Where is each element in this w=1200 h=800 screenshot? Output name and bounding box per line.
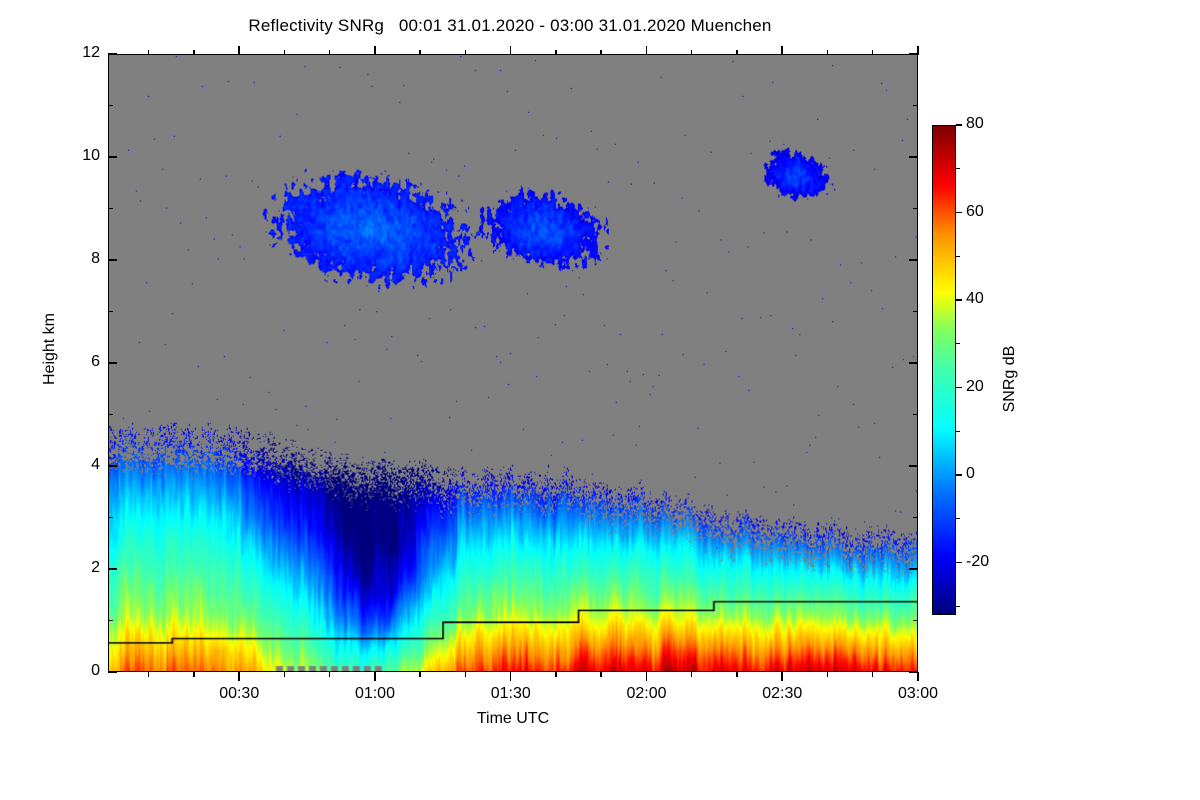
y-major-tick-right	[909, 259, 918, 261]
x-minor-tick	[329, 672, 331, 677]
colorbar-minor-tick	[956, 431, 960, 432]
x-minor-tick-top	[827, 50, 829, 55]
colorbar-tick-label: 20	[966, 378, 984, 396]
y-minor-tick-right	[913, 105, 918, 107]
x-tick-label: 01:30	[466, 685, 556, 703]
y-minor-tick	[108, 311, 113, 313]
x-major-tick	[917, 672, 919, 681]
colorbar-tick-label: 80	[966, 115, 984, 133]
x-axis-title: Time UTC	[108, 710, 918, 728]
colorbar-tick	[956, 212, 962, 213]
y-minor-tick	[108, 414, 113, 416]
colorbar-tick-label: -20	[966, 553, 989, 571]
x-major-tick-top	[646, 46, 648, 55]
x-minor-tick	[419, 672, 421, 677]
x-major-tick-top	[238, 46, 240, 55]
y-major-tick	[108, 156, 117, 158]
y-minor-tick	[108, 620, 113, 622]
x-major-tick	[646, 672, 648, 681]
colorbar-gradient	[933, 126, 955, 614]
x-major-tick-top	[510, 46, 512, 55]
y-tick-label: 12	[58, 44, 100, 62]
x-minor-tick-top	[284, 50, 286, 55]
x-minor-tick	[872, 672, 874, 677]
y-minor-tick-right	[913, 414, 918, 416]
y-major-tick	[108, 362, 117, 364]
x-minor-tick-top	[419, 50, 421, 55]
y-major-tick	[108, 671, 117, 673]
x-tick-label: 02:30	[737, 685, 827, 703]
x-major-tick	[374, 672, 376, 681]
y-major-tick-right	[909, 671, 918, 673]
colorbar-tick-label: 40	[966, 290, 984, 308]
y-minor-tick-right	[913, 517, 918, 519]
x-minor-tick	[284, 672, 286, 677]
x-minor-tick-top	[193, 50, 195, 55]
x-minor-tick	[465, 672, 467, 677]
y-major-tick-right	[909, 568, 918, 570]
x-minor-tick	[827, 672, 829, 677]
y-minor-tick	[108, 105, 113, 107]
colorbar-minor-tick	[956, 168, 960, 169]
x-minor-tick	[555, 672, 557, 677]
y-minor-tick-right	[913, 208, 918, 210]
colorbar-tick-label: 0	[966, 465, 975, 483]
y-tick-label: 6	[58, 353, 100, 371]
y-tick-label: 10	[58, 147, 100, 165]
y-minor-tick	[108, 517, 113, 519]
x-minor-tick-top	[600, 50, 602, 55]
y-tick-label: 4	[58, 456, 100, 474]
x-major-tick	[781, 672, 783, 681]
y-major-tick-right	[909, 465, 918, 467]
x-major-tick-top	[374, 46, 376, 55]
colorbar[interactable]	[932, 125, 956, 615]
y-minor-tick-right	[913, 620, 918, 622]
y-tick-label: 8	[58, 250, 100, 268]
colorbar-title: SNRg dB	[1001, 299, 1019, 459]
y-major-tick-right	[909, 156, 918, 158]
x-major-tick-top	[781, 46, 783, 55]
colorbar-minor-tick	[956, 606, 960, 607]
x-minor-tick	[736, 672, 738, 677]
y-minor-tick-right	[913, 311, 918, 313]
x-major-tick	[510, 672, 512, 681]
x-minor-tick	[600, 672, 602, 677]
x-minor-tick-top	[872, 50, 874, 55]
plot-area[interactable]	[108, 54, 918, 672]
y-minor-tick	[108, 208, 113, 210]
colorbar-tick	[956, 387, 962, 388]
x-minor-tick	[148, 672, 150, 677]
y-axis-title: Height km	[41, 269, 59, 429]
x-minor-tick	[691, 672, 693, 677]
colorbar-tick	[956, 299, 962, 300]
x-tick-label: 00:30	[194, 685, 284, 703]
y-major-tick	[108, 568, 117, 570]
figure-title: Reflectivity SNRg 00:01 31.01.2020 - 03:…	[0, 16, 1020, 36]
y-major-tick	[108, 53, 117, 55]
x-tick-label: 02:00	[601, 685, 691, 703]
figure-root: Reflectivity SNRg 00:01 31.01.2020 - 03:…	[0, 0, 1200, 800]
y-tick-label: 2	[58, 559, 100, 577]
colorbar-tick	[956, 124, 962, 125]
colorbar-tick	[956, 474, 962, 475]
x-minor-tick-top	[736, 50, 738, 55]
colorbar-tick-label: 60	[966, 203, 984, 221]
colorbar-minor-tick	[956, 256, 960, 257]
x-minor-tick	[193, 672, 195, 677]
x-minor-tick-top	[329, 50, 331, 55]
y-major-tick-right	[909, 53, 918, 55]
x-major-tick	[238, 672, 240, 681]
y-major-tick	[108, 259, 117, 261]
reflectivity-heatmap-canvas	[109, 55, 917, 671]
y-major-tick	[108, 465, 117, 467]
x-minor-tick-top	[691, 50, 693, 55]
x-tick-label: 01:00	[330, 685, 420, 703]
y-tick-label: 0	[58, 662, 100, 680]
colorbar-minor-tick	[956, 343, 960, 344]
x-minor-tick-top	[555, 50, 557, 55]
colorbar-tick	[956, 562, 962, 563]
x-tick-label: 03:00	[873, 685, 963, 703]
colorbar-minor-tick	[956, 518, 960, 519]
x-minor-tick-top	[148, 50, 150, 55]
y-major-tick-right	[909, 362, 918, 364]
x-minor-tick-top	[465, 50, 467, 55]
